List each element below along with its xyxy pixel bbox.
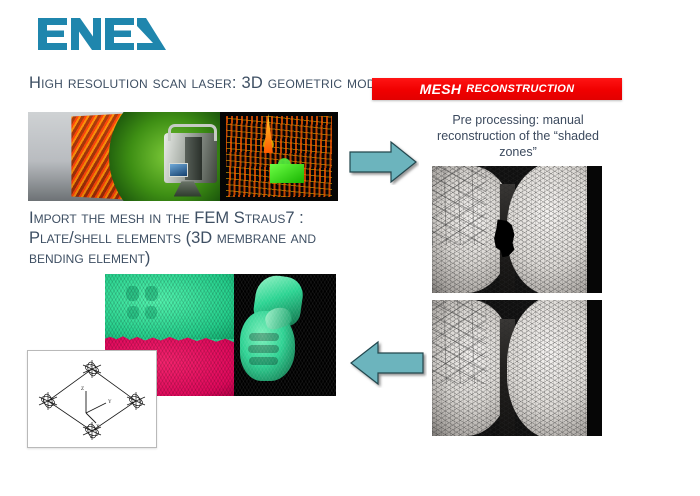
image-mesh-with-shaded-zone — [432, 166, 602, 293]
banner-title-strong: MESH — [420, 81, 462, 97]
mesh-before-coarse-triangulation — [432, 166, 486, 245]
scanner-photo-green-highlight — [270, 164, 304, 184]
presentation-slide: High resolution scan laser: 3D geometric… — [0, 0, 700, 496]
banner-title-rest: RECONSTRUCTION — [466, 83, 574, 95]
text-import-mesh: Import the mesh in the FEM Straus7 : Pla… — [29, 208, 359, 268]
scanner-photo-device-screen — [169, 163, 188, 177]
svg-text:Y: Y — [108, 400, 112, 405]
banner-mesh-reconstruction: MESH RECONSTRUCTION — [372, 78, 622, 100]
enea-logo — [36, 12, 168, 56]
right-arrow — [347, 139, 419, 185]
diagram-plate-shell-element: Z Y X 4 3 2 1 — [27, 350, 157, 448]
plate-shell-element-svg: Z Y X 4 3 2 1 — [28, 351, 156, 447]
left-arrow-icon — [347, 338, 427, 388]
scanner-photo-device-handle — [168, 124, 217, 141]
svg-text:Z: Z — [81, 387, 84, 392]
enea-logo-icon — [36, 12, 168, 56]
heading-scan-laser: High resolution scan laser: 3D geometric… — [29, 74, 391, 93]
image-mesh-repaired — [432, 300, 602, 436]
caption-preprocessing: Pre processing: manual reconstruction of… — [424, 112, 612, 160]
right-arrow-icon — [347, 139, 419, 185]
mesh-after-coarse-triangulation — [432, 300, 486, 384]
fem-photo-hand-mesh-overlay — [234, 274, 336, 396]
left-arrow — [347, 338, 427, 388]
image-laser-scanner — [28, 112, 338, 201]
mesh-after-dark-edge — [587, 300, 602, 436]
mesh-before-dark-edge — [587, 166, 602, 293]
scanner-photo-pointcloud-right — [226, 116, 331, 198]
